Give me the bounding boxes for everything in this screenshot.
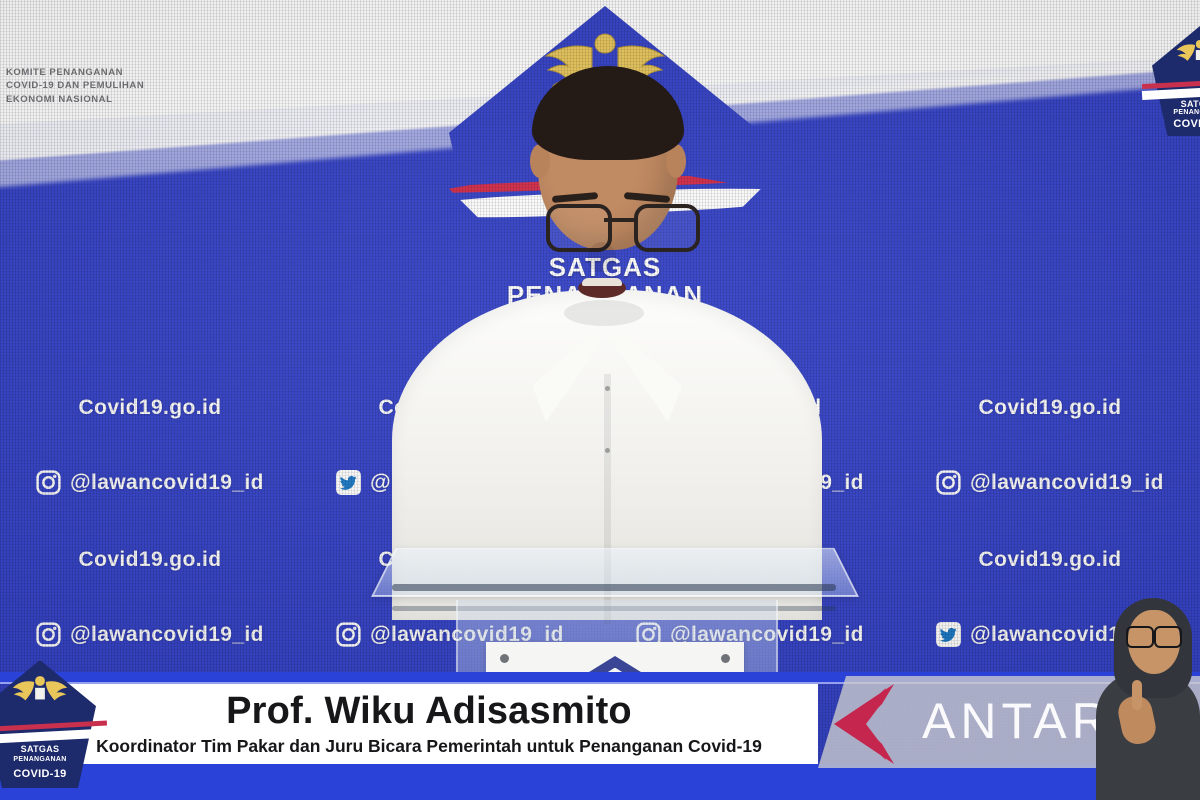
corner-logo-bottom-left: SATGAS PENANGANAN COVID-19 — [0, 660, 96, 788]
backdrop-handle-label: @lawancovid19_id — [70, 623, 264, 647]
corner-logo-line-1: SATGAS — [1152, 99, 1200, 109]
komite-header-text: KOMITE PENANGANAN COVID-19 DAN PEMULIHAN… — [6, 66, 144, 106]
interpreter-finger — [1132, 680, 1142, 710]
corner-logo-line-2: PENANGANAN — [0, 756, 96, 763]
speaker-role: Koordinator Tim Pakar dan Juru Bicara Pe… — [40, 736, 818, 757]
speaker-chin-shadow — [564, 300, 644, 326]
lower-third-bottom-band — [0, 764, 1200, 800]
twitter-bird-icon — [936, 622, 961, 647]
komite-header-line-3: EKONOMI NASIONAL — [6, 93, 144, 106]
backdrop-website: Covid19.go.id — [979, 548, 1122, 572]
backdrop-instagram-handle: @lawancovid19_id — [936, 470, 1164, 495]
backdrop-instagram-handle: @lawancovid19_id — [36, 470, 264, 495]
interpreter-lens-right — [1154, 626, 1182, 648]
speaker-shirt-button — [605, 448, 610, 453]
interpreter-glasses — [1126, 626, 1182, 644]
lower-third-banner: Prof. Wiku Adisasmito Koordinator Tim Pa… — [40, 684, 818, 764]
corner-logo-line-3: COVID-19 — [1152, 118, 1200, 130]
backdrop-website: Covid19.go.id — [979, 396, 1122, 420]
instagram-camera-icon — [36, 470, 61, 495]
speaker-shirt-button — [605, 386, 610, 391]
plaque-screw — [500, 654, 509, 663]
speaker-glasses — [544, 204, 694, 244]
instagram-camera-icon — [36, 622, 61, 647]
speaker-name: Prof. Wiku Adisasmito — [40, 690, 818, 733]
backdrop-instagram-handle: @lawancovid19_id — [36, 622, 264, 647]
speaker-teeth — [582, 278, 622, 286]
corner-logo-line-3: COVID-19 — [0, 768, 96, 780]
backdrop-handle-label: @lawancovid19_id — [70, 471, 264, 495]
interpreter-lens-left — [1126, 626, 1154, 648]
glasses-lens-right — [634, 204, 700, 252]
komite-header-line-2: COVID-19 DAN PEMULIHAN — [6, 79, 144, 92]
backdrop-website: Covid19.go.id — [79, 396, 222, 420]
corner-logo-line-1: SATGAS — [0, 744, 96, 754]
instagram-camera-icon — [336, 622, 361, 647]
glasses-bridge — [604, 218, 634, 222]
twitter-bird-icon — [336, 470, 361, 495]
podium-rail-upper — [392, 584, 836, 591]
sign-language-interpreter — [1088, 588, 1200, 800]
corner-logo-line-2: PENANGANAN — [1152, 109, 1200, 116]
instagram-camera-icon — [936, 470, 961, 495]
komite-header-line-1: KOMITE PENANGANAN — [6, 66, 144, 79]
broadcast-screenshot: Covid19.go.id Covid19.go.id Covid19.go.i… — [0, 0, 1200, 800]
speaker-nose — [588, 242, 616, 272]
backdrop-handle-label: @lawancovid19_id — [970, 471, 1164, 495]
garuda-pancasila-icon — [11, 668, 69, 712]
garuda-pancasila-icon — [1175, 33, 1200, 70]
backdrop-website: Covid19.go.id — [79, 548, 222, 572]
plaque-screw — [721, 654, 730, 663]
corner-logo-top-right: SATGAS PENANGANAN COVID-19 — [1152, 26, 1200, 136]
